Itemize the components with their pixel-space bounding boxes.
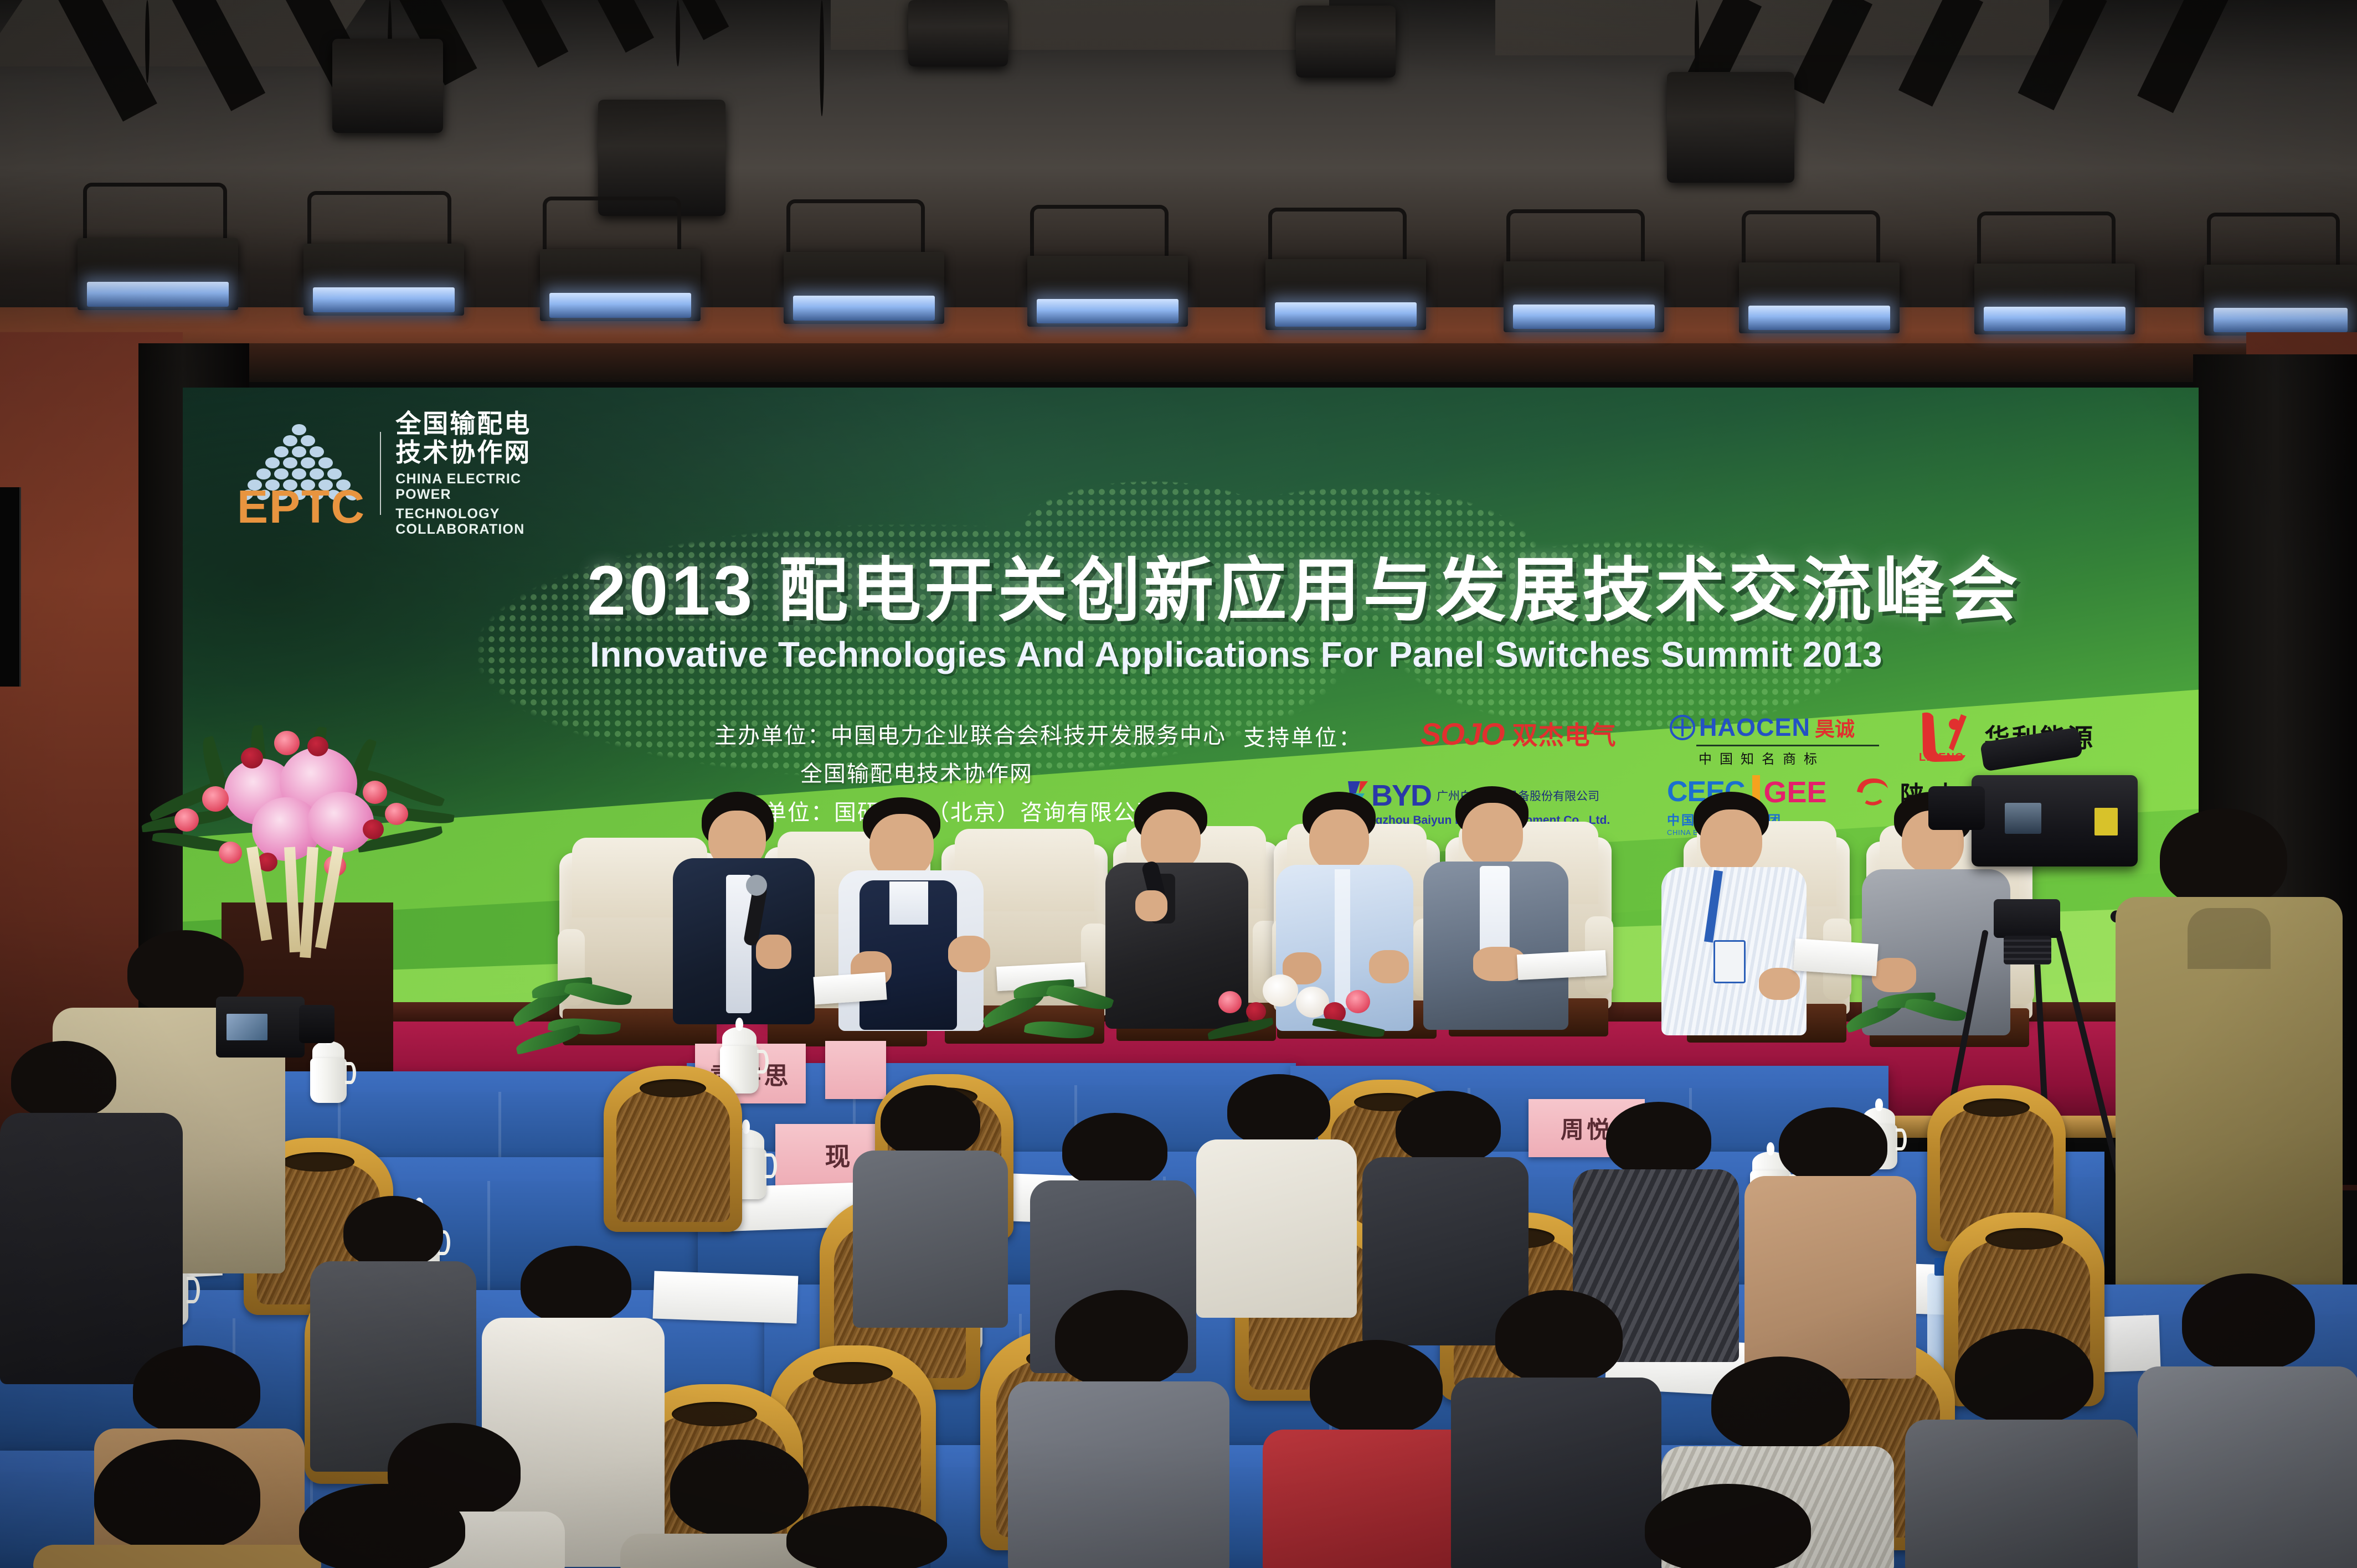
lamp-lens [1275, 302, 1416, 327]
place-name-card-text: 现 [825, 1137, 853, 1173]
lamp-yoke [1030, 205, 1169, 263]
lamp-lens [2214, 308, 2348, 332]
hanging-cable [820, 0, 824, 116]
banquet-chair [604, 1066, 742, 1232]
table-flower-arrangement [1207, 958, 1390, 1058]
lamp-lens [313, 287, 454, 312]
haocen-rule [1696, 745, 1879, 746]
event-title-en: Innovative Technologies And Applications… [590, 634, 1882, 675]
audience-member [2138, 1273, 2357, 1568]
audience-member [0, 1041, 183, 1384]
hanging-cable [676, 0, 680, 66]
lamp-lens [1984, 307, 2125, 331]
eptc-name-cn-line1: 全国输配电 [395, 410, 576, 439]
event-title-cn: 2013 配电开关创新应用与发展技术交流峰会 [587, 534, 2021, 635]
haocen-wordmark: HAOCEN 昊诚 [1670, 713, 1855, 742]
stage-light-fixture [303, 244, 464, 316]
lamp-yoke [1742, 210, 1880, 269]
lamp-yoke [1506, 209, 1645, 267]
moving-head-spotlight [908, 0, 1008, 66]
handout-paper [1793, 938, 1879, 976]
stage-light-fixture [2204, 265, 2357, 336]
hanging-cable [145, 0, 150, 83]
haocen-name-cn: 昊诚 [1815, 713, 1855, 742]
lamp-lens [87, 282, 228, 306]
flower-arrangement [141, 714, 451, 947]
lamp-lens [1513, 305, 1654, 329]
stage-light-fixture [1974, 264, 2135, 334]
panelist-1 [673, 792, 817, 1024]
handout-paper [1517, 950, 1607, 980]
organizer-line-2: 全国输配电技术协作网 [714, 755, 1226, 793]
organizer-block: 主办单位：中国电力企业联合会科技开发服务中心 全国输配电技术协作网 [714, 717, 1226, 793]
supporter-label: 支持单位： [1243, 720, 1362, 752]
audience-member [1905, 1329, 2138, 1568]
svg-text:LIHENG: LIHENG [1919, 751, 1964, 763]
lamp-yoke [2207, 213, 2340, 271]
eptc-pyramid-icon: EPTC [233, 420, 366, 528]
stage-light-fixture [1027, 256, 1188, 327]
logo-divider [380, 432, 381, 515]
panelist-6 [1656, 792, 1811, 1035]
dslr-camera[interactable] [216, 997, 305, 1058]
handout-paper [813, 972, 887, 1005]
hanging-cable [1695, 0, 1699, 83]
eptc-name-cn-line2: 技术协作网 [395, 439, 576, 467]
lamp-lens [1037, 299, 1178, 323]
sojo-name-cn: 双杰电气 [1512, 715, 1617, 752]
eptc-lockup-text: 全国输配电 技术协作网 CHINA ELECTRIC POWER TECHNOL… [395, 410, 576, 537]
lamp-lens [793, 296, 934, 320]
eptc-logo: EPTC 全国输配电 技术协作网 CHINA ELECTRIC POWER TE… [233, 418, 576, 529]
sponsor-logo-haocen: HAOCEN 昊诚 中国知名商标 [1670, 713, 1879, 767]
teacup [310, 1041, 347, 1103]
eptc-acronym: EPTC [237, 483, 366, 530]
stage-light-fixture [540, 249, 701, 321]
stage-light-fixture [1739, 262, 1900, 333]
lamp-lens [549, 293, 691, 317]
video-camcorder[interactable] [1972, 775, 2138, 866]
wall-monitor [0, 487, 21, 687]
camera-lens-hood [1928, 786, 1985, 830]
audience-member [1196, 1074, 1357, 1318]
lamp-yoke [1977, 212, 2116, 270]
camera-sticker [2094, 808, 2118, 835]
stage-light-fixture [784, 252, 944, 324]
panelist-5 [1418, 786, 1573, 1030]
lamp-yoke [307, 191, 451, 252]
audience-member-foreground [238, 1484, 526, 1568]
moving-head-spotlight [332, 39, 443, 133]
moving-head-spotlight [1296, 6, 1396, 78]
stage-light-fixture [78, 238, 238, 310]
audience-member [1744, 1107, 1916, 1379]
liheng-l-icon: LIHENG [1913, 710, 1974, 763]
audience-member [1008, 1290, 1229, 1568]
eptc-name-en-line2: TECHNOLOGY COLLABORATION [395, 506, 576, 537]
lamp-yoke [1268, 208, 1407, 266]
camera-viewfinder [2005, 803, 2041, 834]
audience-member [853, 1085, 1008, 1329]
sponsor-logo-sojo: SOJO 双杰电气 [1421, 715, 1617, 752]
moving-head-spotlight [1667, 72, 1794, 183]
ceiling-shadow-band [0, 343, 2357, 382]
lamp-yoke [786, 199, 925, 260]
conference-photograph: EPTC 全国输配电 技术协作网 CHINA ELECTRIC POWER TE… [0, 0, 2357, 1568]
stage-light-fixture [1504, 261, 1664, 332]
stage-light-fixture [1265, 259, 1426, 330]
lamp-lens [1748, 306, 1890, 330]
audience-member-foreground [731, 1506, 997, 1568]
ceiling-panel [831, 0, 1329, 50]
haocen-name-en: HAOCEN [1699, 713, 1810, 742]
sojo-name-en: SOJO [1421, 716, 1505, 752]
handout-paper [653, 1271, 799, 1323]
haocen-tagline: 中国知名商标 [1699, 748, 1825, 767]
lamp-yoke [543, 197, 681, 257]
videographer [2116, 808, 2348, 1307]
organizer-line-1: 主办单位：中国电力企业联合会科技开发服务中心 [714, 717, 1226, 755]
eptc-name-en-line1: CHINA ELECTRIC POWER [395, 471, 576, 502]
badge [1713, 940, 1746, 983]
audience-member-foreground [1584, 1484, 1872, 1568]
haocen-wheel-icon [1670, 715, 1695, 740]
